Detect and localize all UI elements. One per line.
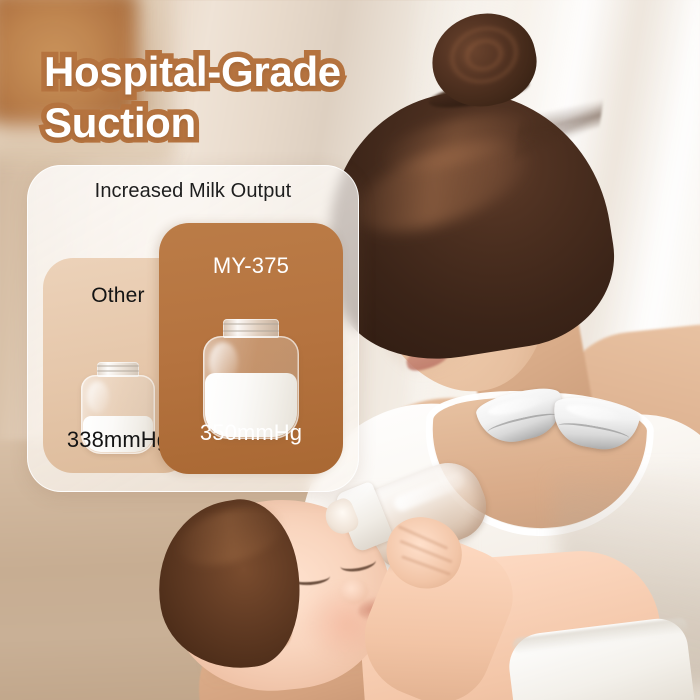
panel-value-my375: 350mmHg [159, 420, 343, 446]
bottle-thread [97, 365, 139, 367]
headline-line-1: Hospital-Grade [44, 48, 341, 95]
comparison-panel-my375: MY-375 350mmHg [159, 223, 343, 474]
panel-label-my375: MY-375 [159, 253, 343, 279]
bottle-thread [223, 323, 279, 325]
headline-line-2: Suction [44, 97, 374, 148]
bottle-highlight [209, 342, 238, 383]
bottle-thread [223, 330, 279, 332]
product-marketing-image: Hospital-Grade Suction Increased Milk Ou… [0, 0, 700, 700]
headline: Hospital-Grade Suction [44, 46, 374, 148]
pump-highlight [565, 402, 621, 424]
bottle-highlight [87, 381, 109, 413]
comparison-card: Increased Milk Output Other 338mmHg MY-3… [27, 165, 359, 492]
comparison-card-title: Increased Milk Output [28, 180, 358, 203]
bottle-thread [97, 370, 139, 372]
